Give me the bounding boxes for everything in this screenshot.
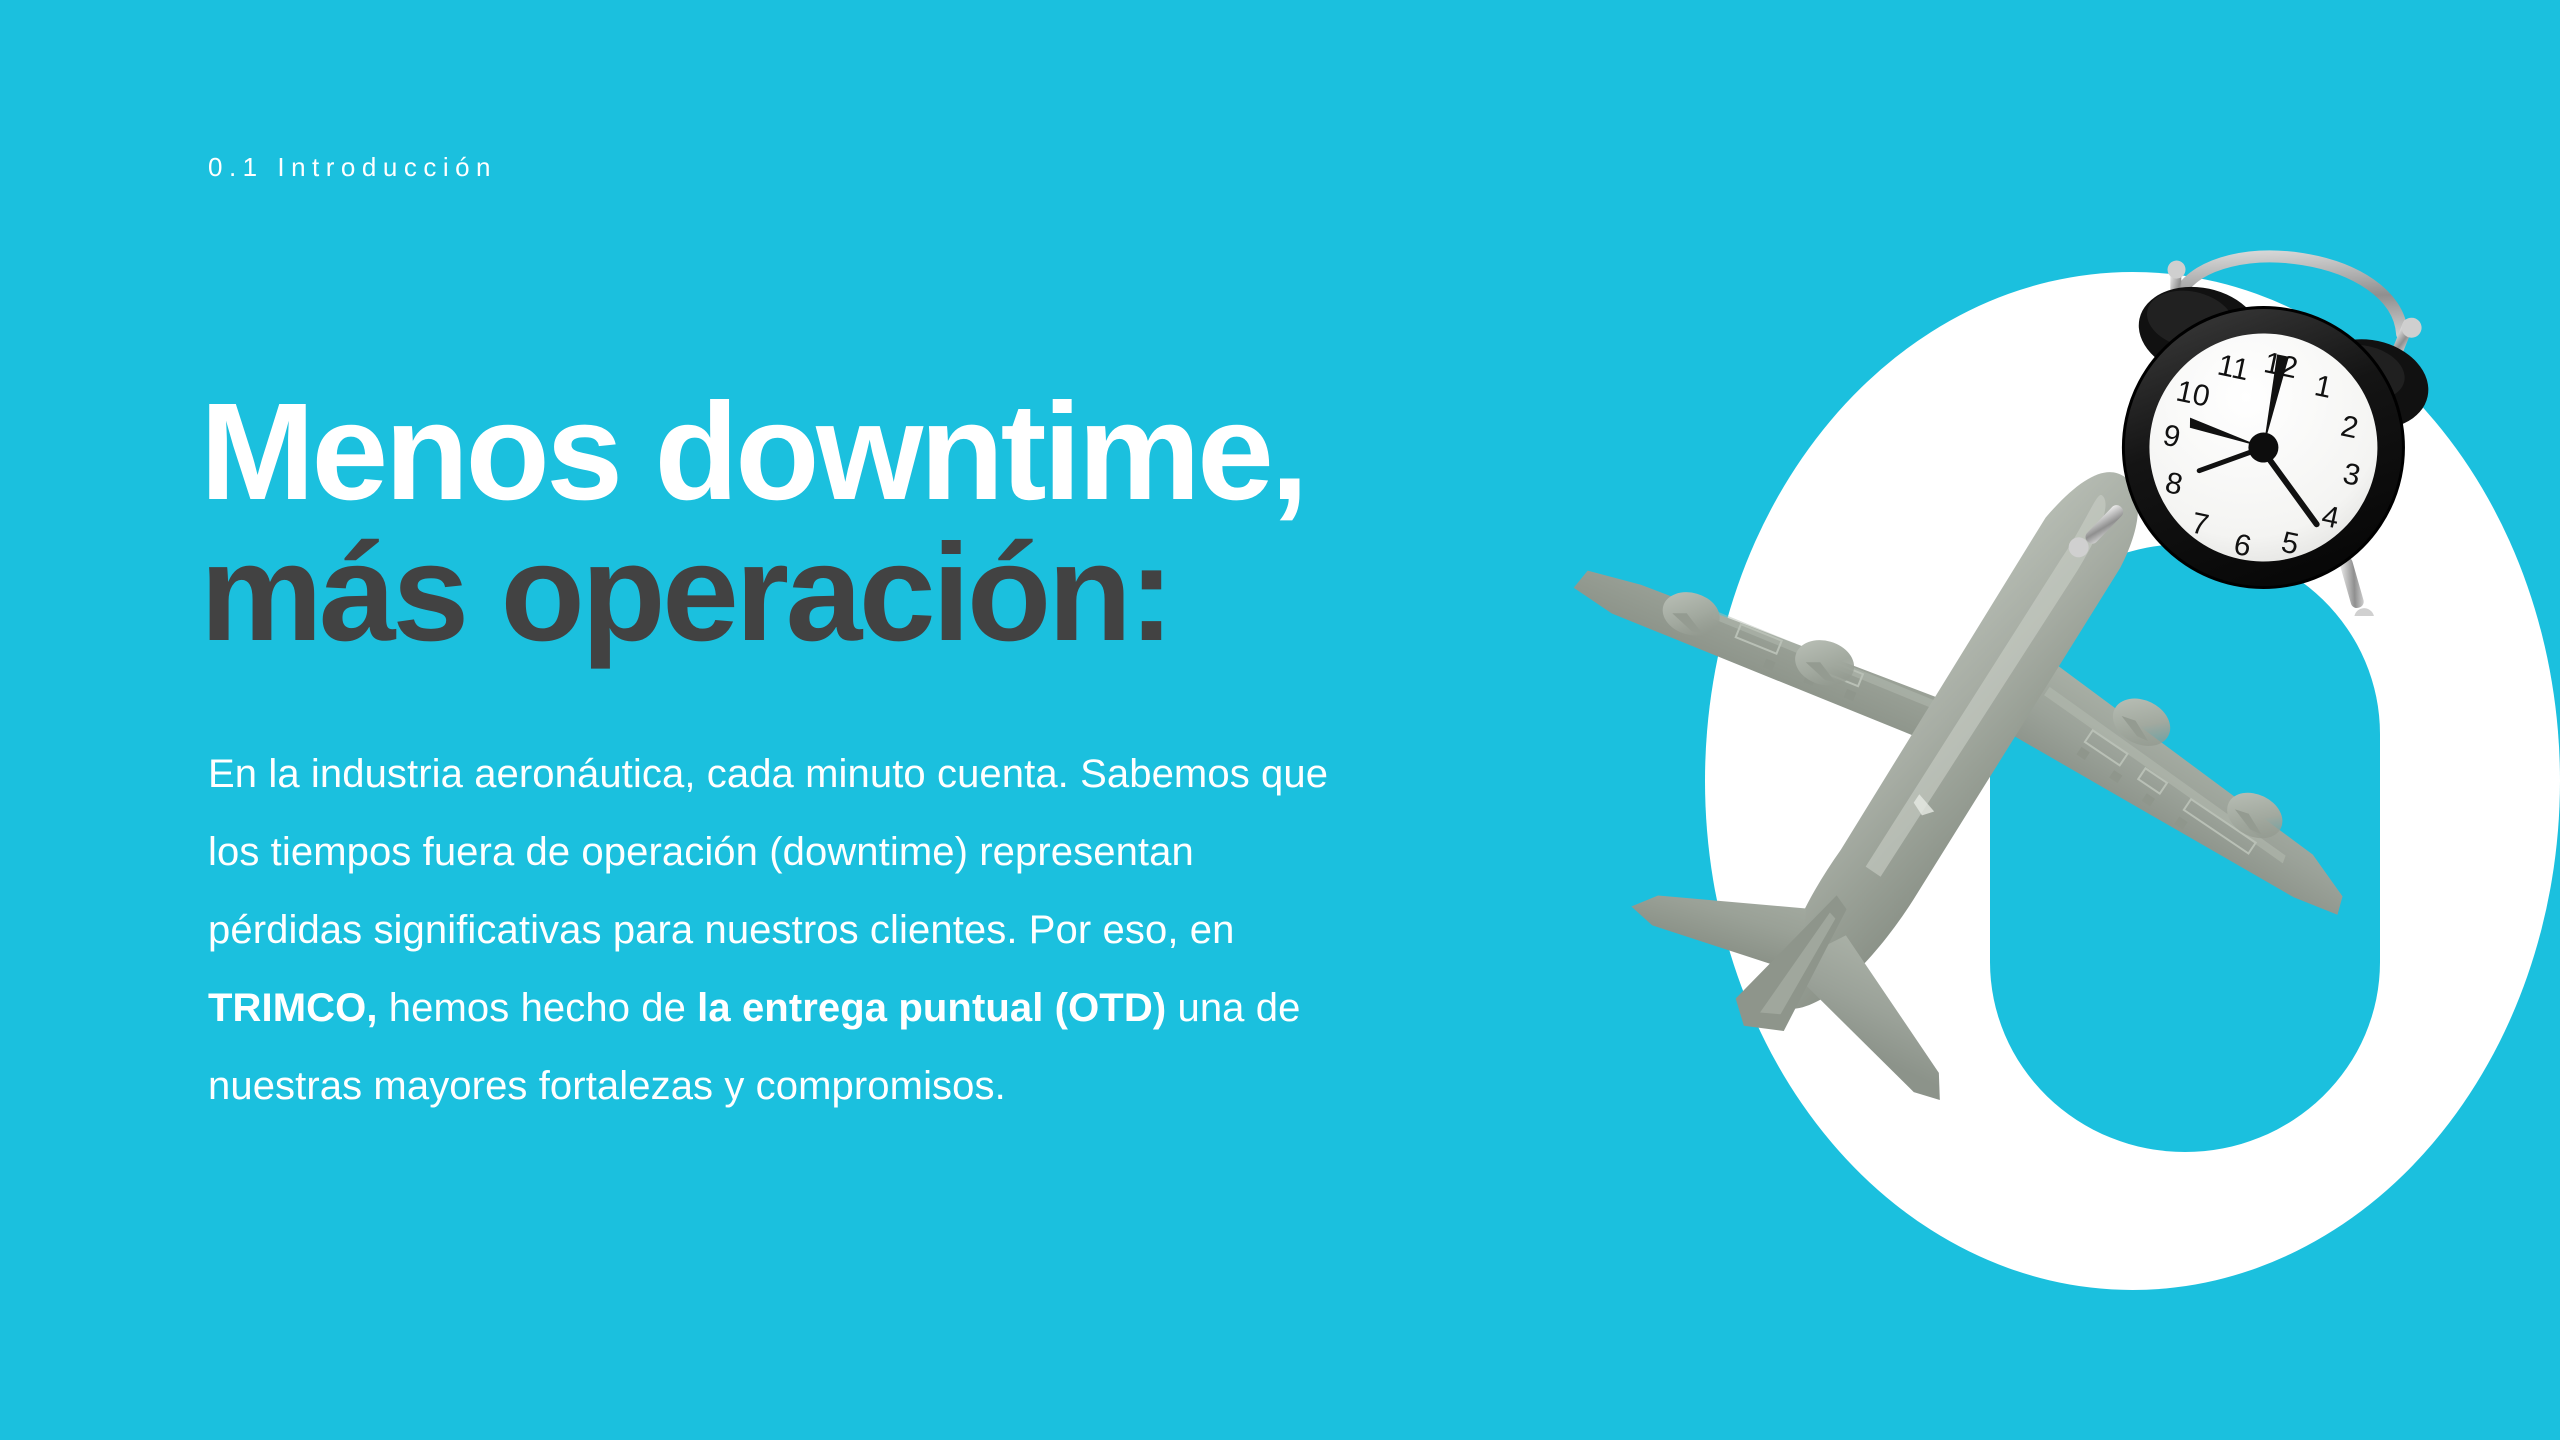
clock-case — [2097, 281, 2429, 613]
svg-text:12: 12 — [2261, 346, 2301, 385]
letter-o-counter — [1990, 544, 2380, 1152]
clock-feet — [2065, 495, 2387, 616]
plane-engine-inner-left — [1778, 618, 1870, 708]
body-emphasis: TRIMCO, — [208, 986, 378, 1030]
svg-text:3: 3 — [2340, 457, 2363, 493]
section-eyebrow: 0.1 Introducción — [208, 152, 497, 183]
clock-hour-hand — [2187, 418, 2266, 448]
plane-engine-inner-right — [2100, 682, 2183, 762]
svg-text:9: 9 — [2160, 419, 2183, 455]
svg-text:11: 11 — [2215, 349, 2252, 388]
letter-o-ring — [1705, 272, 2560, 1290]
clock-bell-left — [2130, 276, 2270, 388]
letter-o-outer — [1705, 272, 2560, 1290]
body-paragraph: En la industria aeronáutica, cada minuto… — [208, 735, 1338, 1125]
headline-line-1: Menos downtime, — [200, 382, 1305, 523]
plane-fuselage — [1737, 453, 2176, 1034]
svg-text:4: 4 — [2319, 500, 2342, 536]
body-text-run: hemos hecho de — [378, 986, 698, 1030]
plane-wing-right — [1971, 638, 2367, 945]
plane-engine-outer-left — [1647, 571, 1736, 657]
plane-horizontal-stabilizer-left — [1629, 827, 1814, 997]
clock-minute-hand — [2258, 354, 2289, 448]
clock-handle — [2180, 235, 2413, 339]
svg-text:6: 6 — [2231, 528, 2254, 564]
page-title: Menos downtime, más operación: — [200, 382, 1305, 664]
twin-bell-alarm-clock: 12 1 2 3 4 5 6 7 8 9 10 11 — [2058, 196, 2478, 616]
svg-text:10: 10 — [2173, 375, 2213, 414]
plane-engine-outer-right — [2215, 777, 2295, 854]
svg-text:7: 7 — [2188, 507, 2211, 543]
body-text-run: En la industria aeronáutica, cada minuto… — [208, 752, 1328, 952]
plane-horizontal-stabilizer-right — [1786, 930, 1987, 1107]
body-emphasis: la entrega puntual (OTD) — [697, 986, 1166, 1030]
svg-text:2: 2 — [2338, 410, 2361, 446]
slide-root: 12 1 2 3 4 5 6 7 8 9 10 11 — [0, 0, 2560, 1440]
clock-bell-right — [2301, 329, 2437, 440]
clock-second-hand — [2249, 449, 2329, 524]
clock-face — [2128, 312, 2398, 582]
headline-line-2: más operación: — [200, 523, 1305, 664]
plane-wing-left — [1574, 460, 1988, 809]
svg-text:1: 1 — [2312, 369, 2335, 405]
svg-text:8: 8 — [2162, 466, 2185, 502]
plane-vertical-fin — [1726, 881, 1864, 1046]
clock-center-cap — [2246, 430, 2282, 466]
svg-text:5: 5 — [2278, 526, 2301, 562]
clock-numerals: 12 1 2 3 4 5 6 7 8 9 10 11 — [2141, 329, 2382, 583]
jumbo-jet-model — [1490, 330, 2390, 1190]
